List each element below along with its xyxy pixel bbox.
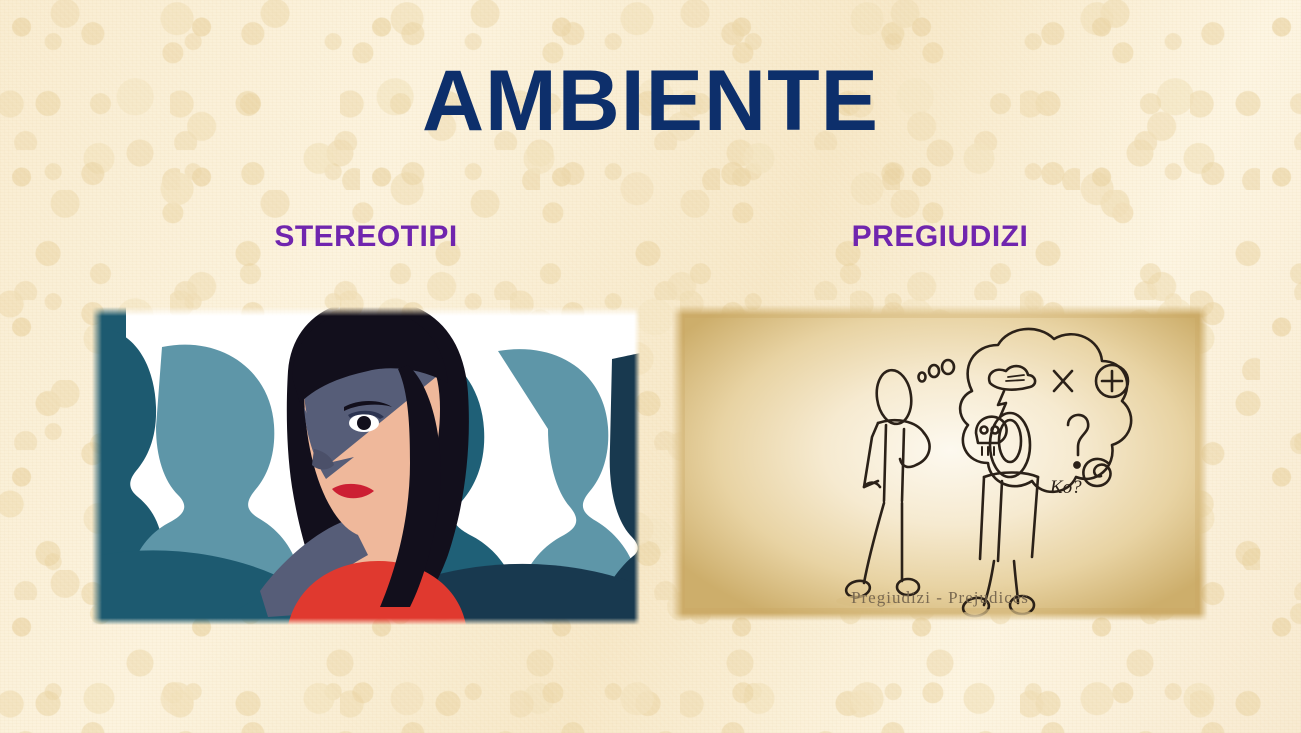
stereotipi-illustration (92, 307, 640, 625)
sepia-backdrop (672, 305, 1208, 621)
question-mark-dot (1074, 462, 1079, 467)
image-pregiudizi: Ko? Pregiudizi - Prejudices (672, 305, 1208, 621)
pregiudizi-illustration: Ko? Pregiudizi - Prejudices (672, 305, 1208, 621)
slide-canvas: AMBIENTE STEREOTIPI PREGIUDIZI (0, 0, 1301, 733)
image-caption: Pregiudizi - Prejudices (851, 588, 1029, 607)
shadow-right-figure (960, 609, 1036, 621)
section-heading-stereotipi: STEREOTIPI (92, 220, 640, 254)
section-heading-pregiudizi: PREGIUDIZI (672, 220, 1208, 254)
woman-eye-pupil (357, 416, 371, 430)
slide-title: AMBIENTE (0, 58, 1301, 144)
ko-label: Ko? (1049, 477, 1082, 498)
image-stereotipi (92, 307, 640, 625)
